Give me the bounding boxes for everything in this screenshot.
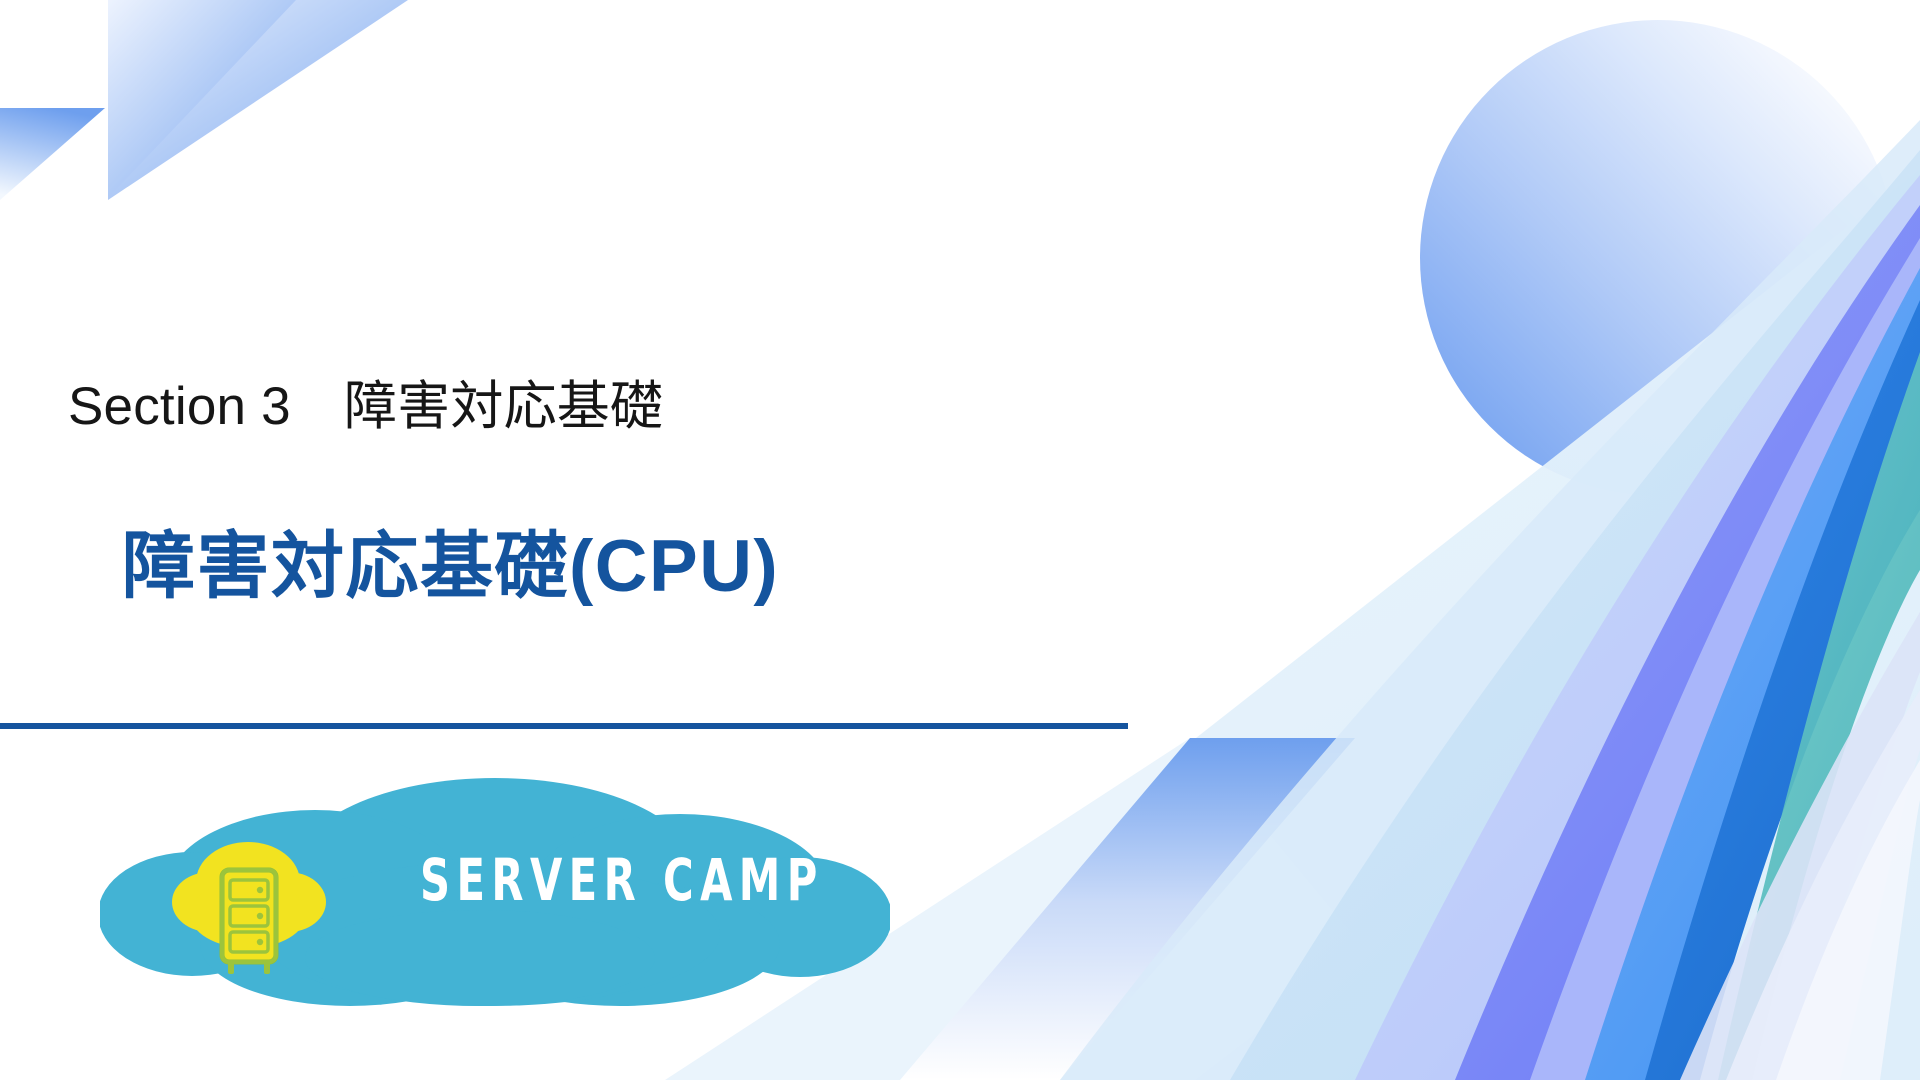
top-right-circle: [1420, 20, 1896, 496]
ribbon-band-indigo: [1455, 205, 1920, 1080]
bottom-pale-wedge: [760, 170, 1920, 1080]
ribbon-band-pale-1: [1060, 120, 1920, 1080]
top-left-triangle-main: [108, 0, 296, 198]
ribbon-band-lightblue: [1230, 150, 1920, 1080]
slide-canvas: Section 3 障害対応基礎 障害対応基礎(CPU): [0, 0, 1920, 1080]
ribbon-band-lavender-2: [1726, 690, 1920, 1080]
top-left-triangle: [108, 0, 408, 200]
top-left-small-triangle: [0, 108, 105, 200]
title-divider-rule: [0, 723, 1128, 729]
ribbon-band-periwinkle-wide: [1355, 175, 1920, 1080]
page-title: 障害対応基礎(CPU): [122, 529, 779, 606]
ribbon-band-lavender-1: [1680, 612, 1920, 1080]
bottom-parallelogram: [900, 738, 1355, 1080]
logo-wordmark: SERVER CAMP: [420, 846, 824, 914]
section-eyebrow: Section 3 障害対応基礎: [68, 379, 663, 435]
ribbon-band-teal: [1718, 352, 1920, 1080]
ribbon-band-brightblue: [1585, 268, 1920, 1080]
ribbon-band-deepblue: [1645, 300, 1920, 1080]
server-camp-logo: SERVER CAMP: [100, 762, 890, 1012]
ribbon-band-periwinkle-thin: [1530, 238, 1920, 1080]
ribbon-band-white-sheen: [1776, 760, 1920, 1080]
